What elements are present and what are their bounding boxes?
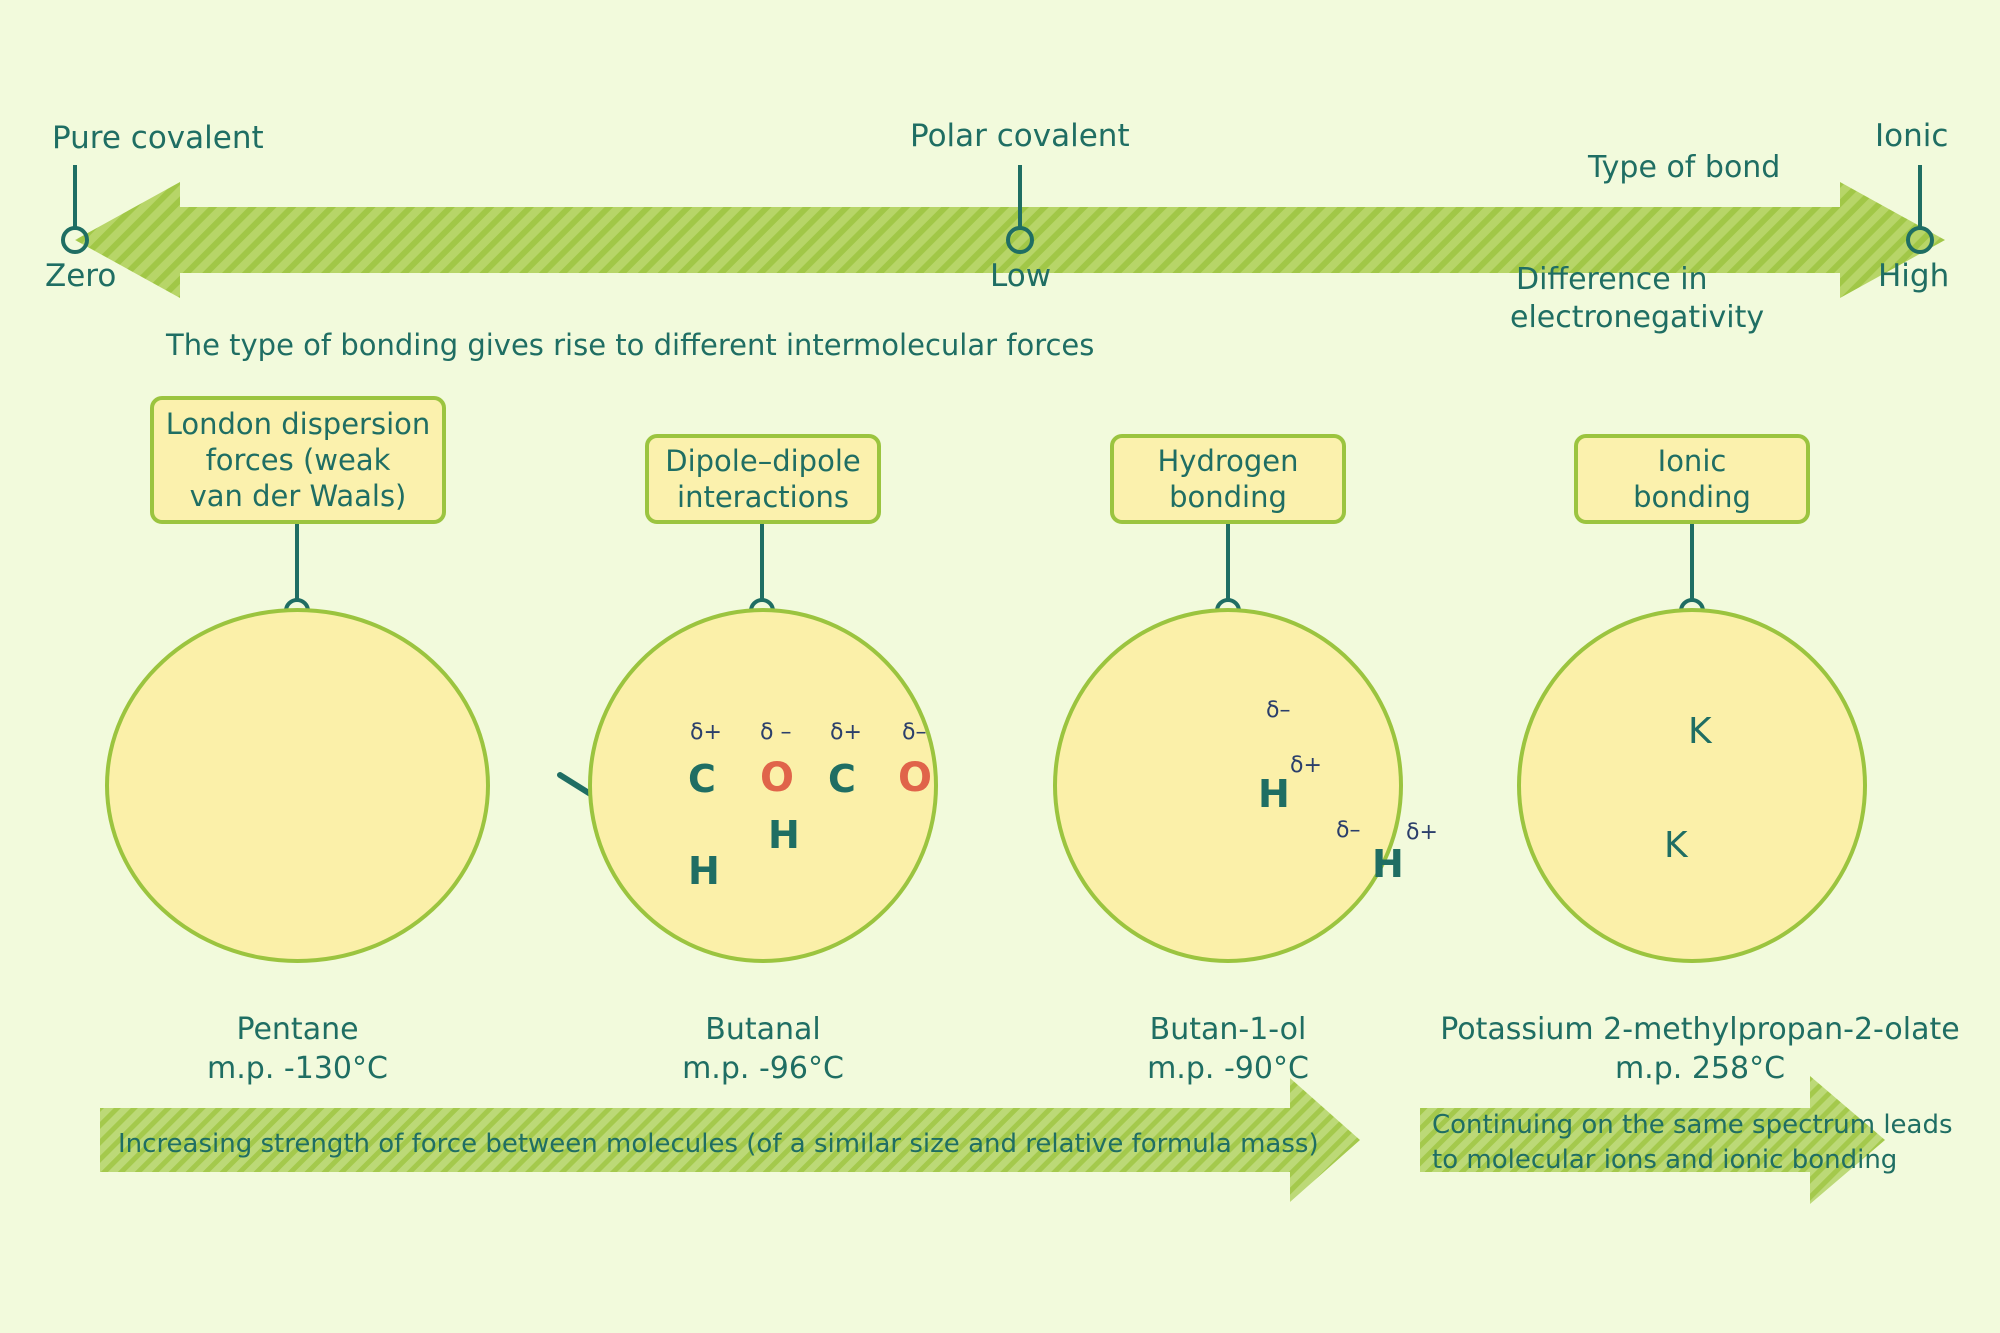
spectrum-right-value: High [1878, 258, 1949, 295]
caption-butanal: Butanal m.p. -96°C [588, 1010, 938, 1088]
spectrum-middle-value: Low [990, 258, 1051, 295]
caption-ionic: Potassium 2-methylpropan-2-olate m.p. 25… [1420, 1010, 1980, 1088]
butanal-left-delta-plus: δ+ [690, 722, 722, 744]
london-line-2: forces (weak [206, 443, 391, 477]
butanal-right-oxygen: O [898, 758, 932, 798]
label-box-ionic-text: Ionic bonding [1633, 443, 1751, 516]
label-box-hydrogen[interactable]: Hydrogen bonding [1110, 434, 1346, 524]
butanal-left-hydrogen: H [688, 852, 720, 890]
diagram-canvas: Pure covalent Zero Polar covalent Low Io… [0, 0, 2000, 1333]
subtitle: The type of bonding gives rise to differ… [166, 328, 1094, 362]
butanol-lower-hydrogen: H [1372, 845, 1404, 883]
butanal-right-delta-minus: δ– [902, 722, 926, 744]
caption-ionic-name: Potassium 2-methylpropan-2-olate [1420, 1010, 1980, 1049]
bottom-right-band-text: Continuing on the same spectrum leads to… [1432, 1108, 1953, 1178]
bottom-left-band-text: Increasing strength of force between mol… [118, 1127, 1319, 1162]
butanol-upper-hydrogen: H [1258, 775, 1290, 813]
spectrum-right-label: Ionic [1875, 118, 1948, 155]
axis-bottom-note-line1: Difference in [1516, 262, 1708, 297]
hydrogen-line-2: bonding [1169, 480, 1287, 514]
caption-pentane-name: Pentane [105, 1010, 490, 1049]
label-box-london[interactable]: London dispersion forces (weak van der W… [150, 396, 446, 524]
spectrum-left-label: Pure covalent [52, 120, 264, 157]
axis-top-note: Type of bond [1588, 150, 1780, 185]
label-box-ionic[interactable]: Ionic bonding [1574, 434, 1810, 524]
potassium-lower: K [1664, 828, 1688, 864]
butanal-left-carbon: C [688, 760, 716, 798]
butanol-upper-delta-minus: δ– [1266, 700, 1290, 722]
ionic-line-2: bonding [1633, 480, 1751, 514]
potassium-upper: K [1688, 714, 1712, 750]
butanal-right-hydrogen: H [768, 816, 800, 854]
caption-ionic-mp: m.p. 258°C [1420, 1049, 1980, 1088]
caption-pentane: Pentane m.p. -130°C [105, 1010, 490, 1088]
caption-butan-1-ol-name: Butan-1-ol [1053, 1010, 1403, 1049]
london-line-1: London dispersion [166, 407, 431, 441]
label-box-hydrogen-text: Hydrogen bonding [1157, 443, 1298, 516]
circle-butan-1-ol[interactable] [1053, 608, 1403, 963]
butanol-upper-delta-plus: δ+ [1290, 755, 1322, 777]
butanal-right-delta-plus: δ+ [830, 722, 862, 744]
bottom-right-band-line1: Continuing on the same spectrum leads [1432, 1108, 1953, 1143]
butanal-left-oxygen: O [760, 758, 794, 798]
london-line-3: van der Waals) [190, 479, 407, 513]
spectrum-middle-label: Polar covalent [910, 118, 1130, 155]
hydrogen-line-1: Hydrogen [1157, 444, 1298, 478]
dipole-line-2: interactions [677, 480, 849, 514]
caption-butan-1-ol-mp: m.p. -90°C [1053, 1049, 1403, 1088]
axis-bottom-note-line2: electronegativity [1510, 300, 1764, 335]
dipole-line-1: Dipole–dipole [665, 444, 860, 478]
butanol-lower-delta-minus: δ– [1336, 820, 1360, 842]
ionic-line-1: Ionic [1658, 444, 1727, 478]
caption-pentane-mp: m.p. -130°C [105, 1049, 490, 1088]
butanal-right-carbon: C [828, 760, 856, 798]
caption-butan-1-ol: Butan-1-ol m.p. -90°C [1053, 1010, 1403, 1088]
label-box-london-text: London dispersion forces (weak van der W… [166, 406, 431, 515]
box-circle-connectors [286, 524, 1703, 622]
label-box-dipole[interactable]: Dipole–dipole interactions [645, 434, 881, 524]
caption-butanal-mp: m.p. -96°C [588, 1049, 938, 1088]
label-box-dipole-text: Dipole–dipole interactions [665, 443, 860, 516]
circle-pentane[interactable] [105, 608, 490, 963]
butanal-left-delta-minus: δ – [760, 722, 791, 744]
spectrum-left-value: Zero [45, 258, 116, 295]
butanol-lower-delta-plus: δ+ [1406, 822, 1438, 844]
bottom-right-band-line2: to molecular ions and ionic bonding [1432, 1143, 1953, 1178]
circle-ionic[interactable] [1517, 608, 1867, 963]
caption-butanal-name: Butanal [588, 1010, 938, 1049]
